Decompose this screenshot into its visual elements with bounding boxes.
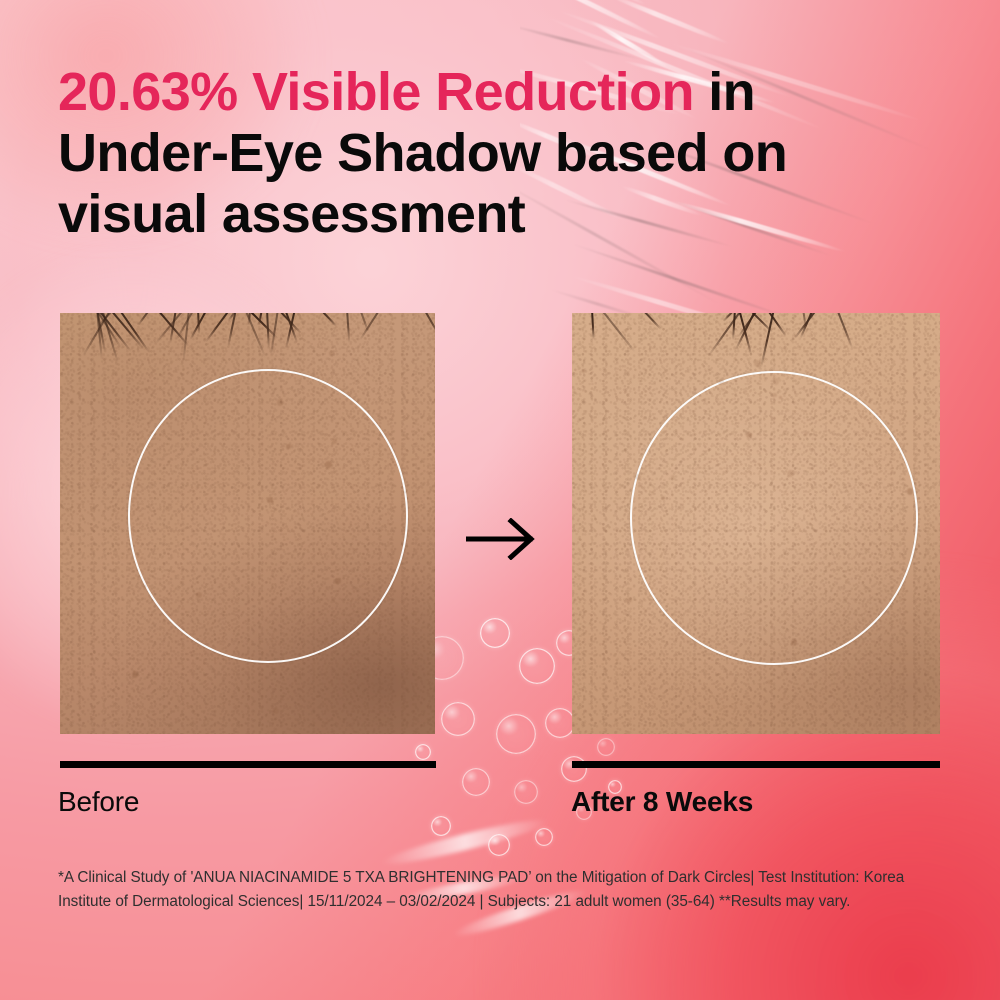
skin-freckle [626, 597, 631, 602]
skin-freckle [277, 399, 283, 405]
headline-line2: Under-Eye Shadow based on [58, 123, 787, 183]
eyelash-hair [346, 313, 350, 343]
gel-bubble [441, 702, 475, 736]
skin-freckle [697, 466, 700, 469]
gel-bubble [496, 714, 536, 754]
skin-freckle [132, 671, 139, 678]
skin-freckle [168, 413, 172, 417]
skin-freckle [324, 639, 328, 643]
skin-freckle [273, 708, 279, 714]
gel-bubble [561, 756, 587, 782]
skin-freckle [773, 378, 779, 384]
skin-freckle [404, 491, 406, 493]
arrow-right-icon [466, 518, 540, 560]
skin-freckle [718, 379, 724, 385]
gel-bubble [431, 816, 451, 836]
after-label: After 8 Weeks [571, 786, 753, 818]
eyelash-hair [204, 313, 230, 343]
skin-freckle [196, 592, 202, 598]
eyelash-hair [641, 313, 662, 330]
footnote-line-3: (35-64) **Results may vary. [666, 893, 851, 910]
gel-bubble [519, 648, 555, 684]
skin-freckle [907, 488, 913, 494]
skin-freckle [779, 396, 782, 399]
gel-bubble [480, 618, 510, 648]
skin-freckle [582, 369, 586, 373]
skin-freckle [286, 444, 291, 449]
gel-bubble [462, 768, 490, 796]
skin-freckle [166, 509, 168, 511]
headline-line3: visual assessment [58, 184, 525, 244]
promo-graphic: 20.63% Visible Reduction in Under-Eye Sh… [0, 0, 1000, 1000]
gel-bubble [535, 828, 553, 846]
footnote-line-1: *A Clinical Study of 'ANUA NIACINAMIDE 5… [58, 869, 786, 886]
gel-bubble [545, 708, 575, 738]
before-divider [60, 761, 436, 768]
skin-freckle [267, 497, 273, 503]
skin-freckle [746, 432, 752, 438]
skin-freckle [329, 351, 334, 356]
skin-freckle [335, 578, 341, 584]
skin-freckle [754, 360, 761, 367]
eyelash-hair [138, 313, 152, 326]
skin-freckle [829, 662, 832, 665]
after-marker-circle-icon [630, 371, 918, 665]
eyelash-hair [601, 313, 636, 352]
eyelash-hair [424, 313, 435, 337]
skin-freckle [309, 459, 311, 461]
before-eyelashes [60, 313, 435, 375]
skin-freckle [661, 496, 665, 500]
before-photo [60, 313, 435, 734]
gel-bubble [597, 738, 615, 756]
eyelash-hair [118, 313, 150, 353]
skin-freckle [251, 434, 253, 436]
headline-stat: 20.63% Visible Reduction [58, 62, 694, 122]
footnote-disclaimer: *A Clinical Study of 'ANUA NIACINAMIDE 5… [58, 866, 920, 914]
after-divider [572, 761, 940, 768]
skin-freckle [195, 389, 199, 393]
eyelash-hair [836, 313, 854, 350]
gel-bubble [514, 780, 538, 804]
headline-line1-rest: in [694, 62, 755, 122]
before-label: Before [58, 786, 139, 818]
gel-bubble [415, 744, 431, 760]
eyelash-hair [319, 313, 337, 327]
page-title: 20.63% Visible Reduction in Under-Eye Sh… [58, 62, 938, 245]
after-photo [572, 313, 940, 734]
eyelash-hair [591, 313, 595, 340]
